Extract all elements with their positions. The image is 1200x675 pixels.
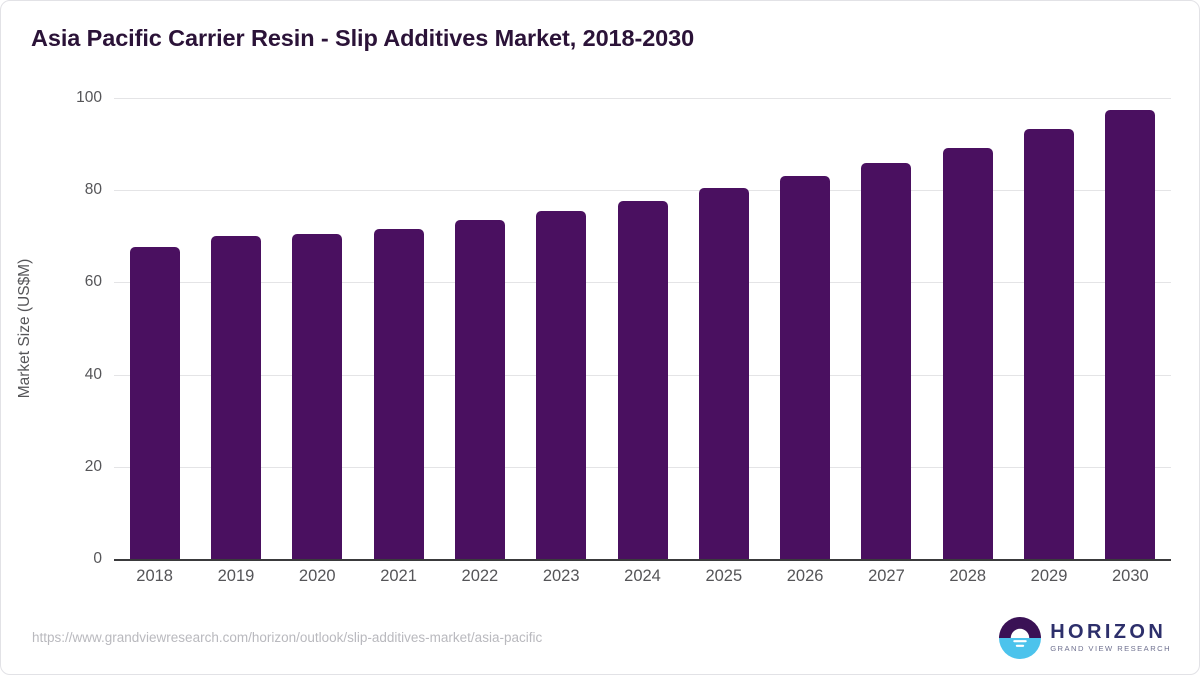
- y-axis-title: Market Size (US$M): [11, 98, 39, 559]
- logo-tagline: GRAND VIEW RESEARCH: [1050, 644, 1171, 653]
- x-tick-label-2025: 2025: [684, 567, 764, 586]
- y-tick-label: 20: [42, 458, 102, 476]
- brand-logo: HORIZON GRAND VIEW RESEARCH: [999, 617, 1171, 659]
- bar-2024[interactable]: [618, 201, 668, 559]
- y-tick-label: 60: [42, 273, 102, 291]
- bar-2021[interactable]: [374, 229, 424, 559]
- x-tick-label-2024: 2024: [603, 567, 683, 586]
- y-tick-label: 80: [42, 181, 102, 199]
- x-tick-label-2020: 2020: [277, 567, 357, 586]
- logo-text: HORIZON GRAND VIEW RESEARCH: [1050, 622, 1171, 653]
- x-tick-label-2023: 2023: [521, 567, 601, 586]
- x-tick-label-2022: 2022: [440, 567, 520, 586]
- bar-2018[interactable]: [130, 247, 180, 559]
- horizon-sunrise-logo-icon: [999, 617, 1041, 659]
- y-tick-label: 100: [42, 89, 102, 107]
- source-url-link[interactable]: https://www.grandviewresearch.com/horizo…: [32, 630, 542, 645]
- y-tick-label: 0: [42, 550, 102, 568]
- bar-series: [114, 98, 1171, 559]
- x-tick-label-2028: 2028: [928, 567, 1008, 586]
- y-tick-label: 40: [42, 366, 102, 384]
- bar-2019[interactable]: [211, 236, 261, 559]
- x-axis-ticks: 2018201920202021202220232024202520262027…: [114, 567, 1171, 597]
- x-tick-label-2030: 2030: [1090, 567, 1170, 586]
- x-tick-label-2027: 2027: [846, 567, 926, 586]
- x-tick-label-2018: 2018: [115, 567, 195, 586]
- page-title: Asia Pacific Carrier Resin - Slip Additi…: [31, 25, 694, 52]
- gridline: [114, 559, 1171, 561]
- x-tick-label-2029: 2029: [1009, 567, 1089, 586]
- bar-2027[interactable]: [861, 163, 911, 559]
- bar-2023[interactable]: [536, 211, 586, 559]
- bar-2028[interactable]: [943, 148, 993, 559]
- x-tick-label-2021: 2021: [359, 567, 439, 586]
- x-tick-label-2019: 2019: [196, 567, 276, 586]
- bar-2025[interactable]: [699, 188, 749, 559]
- bar-2030[interactable]: [1105, 110, 1155, 559]
- bar-2020[interactable]: [292, 234, 342, 559]
- bar-2026[interactable]: [780, 176, 830, 559]
- bar-2022[interactable]: [455, 220, 505, 559]
- chart-card: Asia Pacific Carrier Resin - Slip Additi…: [0, 0, 1200, 675]
- plot-area: [114, 98, 1171, 559]
- x-tick-label-2026: 2026: [765, 567, 845, 586]
- logo-wordmark: HORIZON: [1050, 622, 1171, 643]
- bar-2029[interactable]: [1024, 129, 1074, 559]
